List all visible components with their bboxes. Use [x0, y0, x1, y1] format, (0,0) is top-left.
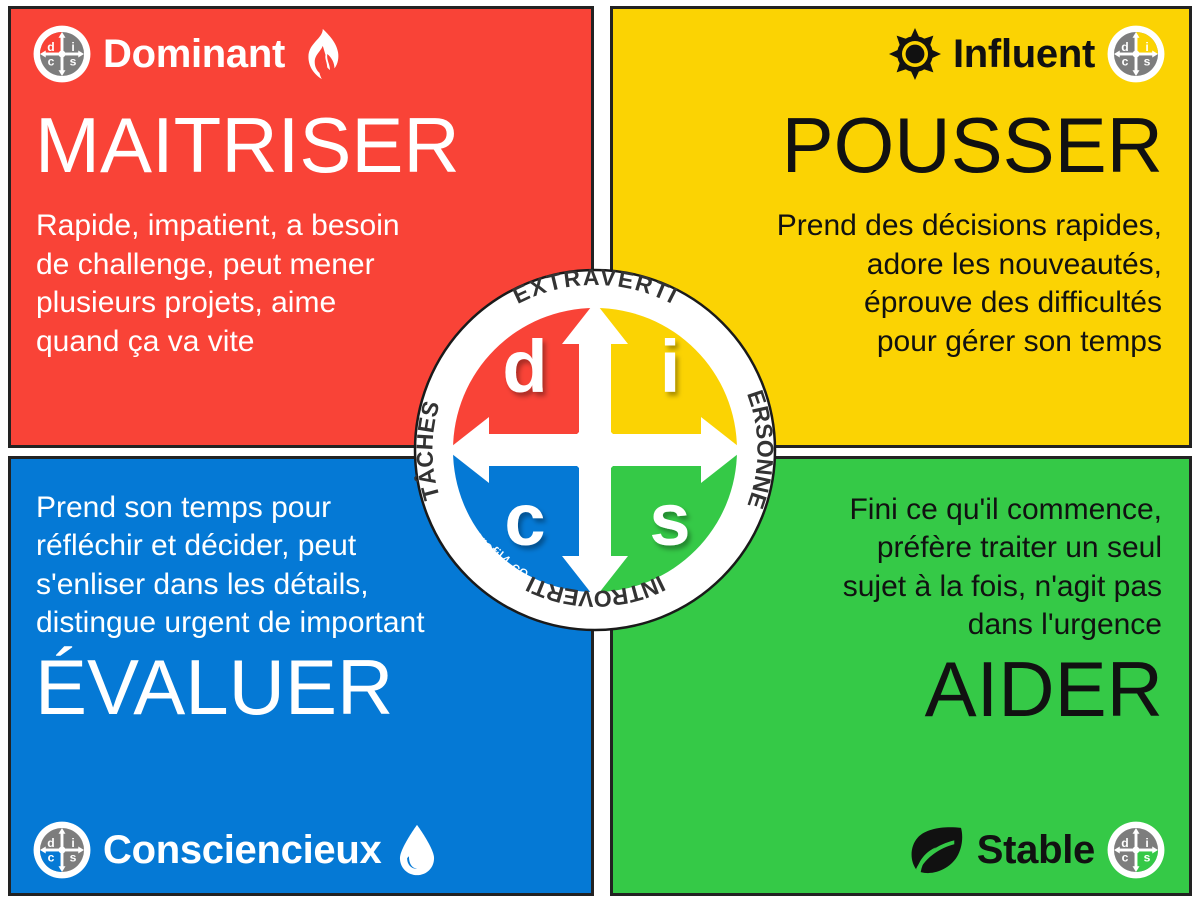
consciencieux-name: Consciencieux	[103, 830, 381, 870]
flame-icon	[297, 28, 345, 80]
quadrant-stable[interactable]: Fini ce qu'il commence, préfère traiter …	[610, 456, 1192, 896]
influent-verb: POUSSER	[782, 107, 1163, 183]
svg-text:d: d	[47, 40, 54, 54]
quadrant-consciencieux[interactable]: Prend son temps pour réfléchir et décide…	[8, 456, 594, 896]
svg-text:c: c	[1122, 850, 1129, 864]
disc-infographic: d i c s Dominant MA	[0, 0, 1200, 900]
stable-verb: AIDER	[925, 651, 1163, 727]
sun-icon	[889, 28, 941, 80]
svg-text:d: d	[1121, 836, 1128, 850]
svg-text:d: d	[47, 836, 54, 850]
svg-text:c: c	[48, 850, 55, 864]
svg-text:s: s	[70, 54, 77, 68]
svg-text:i: i	[71, 836, 74, 850]
dominant-header: d i c s Dominant	[33, 23, 345, 85]
svg-text:c: c	[1122, 54, 1129, 68]
stable-header: Stable d i c s	[909, 819, 1165, 881]
svg-text:s: s	[1144, 54, 1151, 68]
quadrant-influent[interactable]: Influent d i c s	[610, 6, 1192, 448]
dominant-verb: MAITRISER	[35, 107, 460, 183]
dominant-description: Rapide, impatient, a besoin de challenge…	[36, 207, 400, 361]
disc-badge-c-icon: d i c s	[33, 821, 91, 879]
influent-description: Prend des décisions rapides, adore les n…	[777, 207, 1162, 361]
stable-name: Stable	[977, 830, 1095, 870]
svg-text:c: c	[48, 54, 55, 68]
quadrant-dominant[interactable]: d i c s Dominant MA	[8, 6, 594, 448]
water-drop-icon	[393, 824, 441, 876]
disc-badge-d-icon: d i c s	[33, 25, 91, 83]
influent-header: Influent d i c s	[889, 23, 1165, 85]
svg-text:i: i	[71, 40, 74, 54]
svg-text:d: d	[1121, 40, 1128, 54]
disc-badge-i-icon: d i c s	[1107, 25, 1165, 83]
svg-text:s: s	[70, 850, 77, 864]
influent-name: Influent	[953, 34, 1095, 74]
disc-badge-s-icon: d i c s	[1107, 821, 1165, 879]
consciencieux-description: Prend son temps pour réfléchir et décide…	[36, 489, 425, 643]
leaf-icon	[909, 826, 965, 874]
stable-description: Fini ce qu'il commence, préfère traiter …	[843, 491, 1162, 645]
svg-text:s: s	[1144, 850, 1151, 864]
consciencieux-verb: ÉVALUER	[35, 649, 393, 725]
dominant-name: Dominant	[103, 34, 285, 74]
consciencieux-header: d i c s Consciencieux	[33, 819, 441, 881]
svg-text:i: i	[1145, 40, 1148, 54]
svg-text:i: i	[1145, 836, 1148, 850]
